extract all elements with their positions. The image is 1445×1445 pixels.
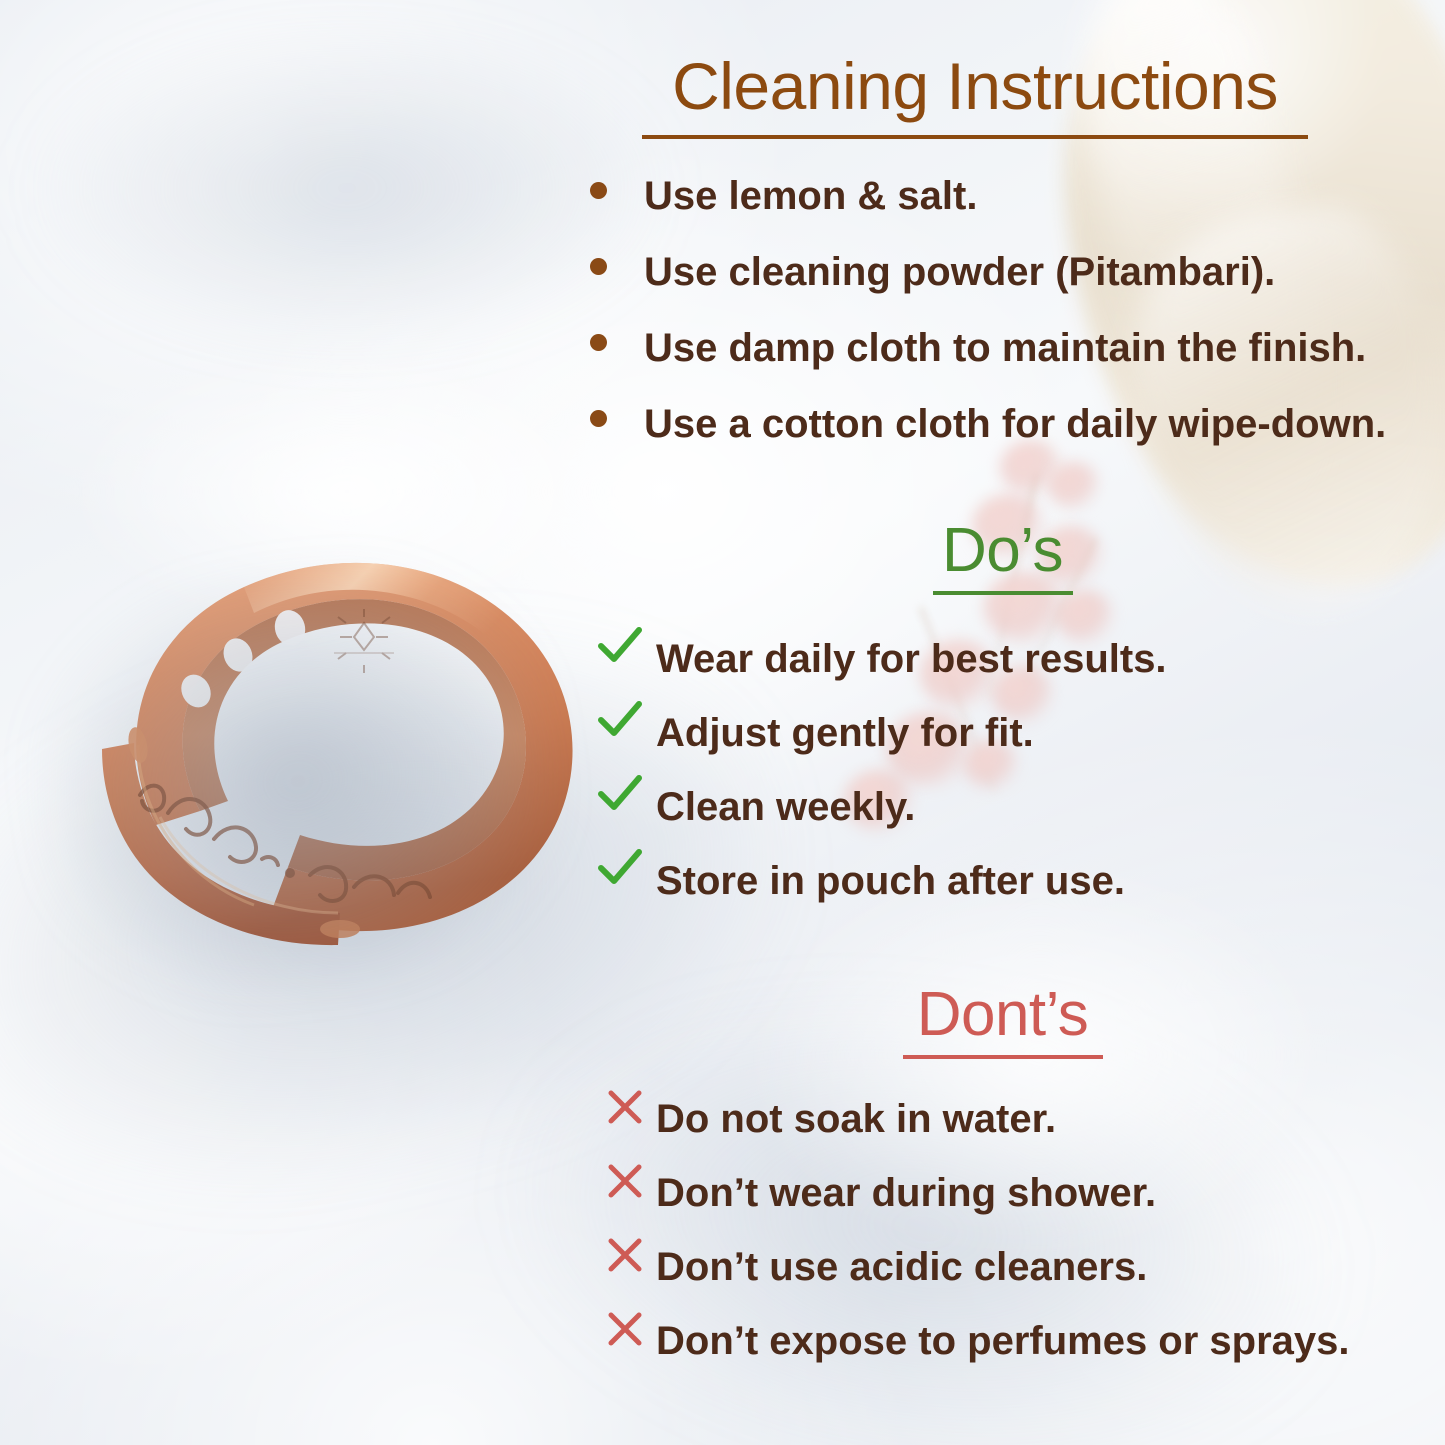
donts-title: Dont’s — [580, 982, 1425, 1047]
check-icon — [584, 700, 656, 740]
donts-title-underline — [903, 1055, 1103, 1059]
list-item: Do not soak in water. — [580, 1094, 1425, 1168]
list-item: Wear daily for best results. — [580, 632, 1425, 706]
cross-icon — [594, 1162, 656, 1200]
list-item: Use damp cloth to maintain the finish. — [580, 328, 1425, 404]
donts-list: Do not soak in water. Don’t wear during … — [580, 1094, 1425, 1390]
list-item-label: Don’t use acidic cleaners. — [656, 1247, 1147, 1287]
list-item: Use cleaning powder (Pitambari). — [580, 252, 1425, 328]
cross-icon — [594, 1236, 656, 1274]
dos-title: Do’s — [580, 518, 1425, 583]
cleaning-list: Use lemon & salt. Use cleaning powder (P… — [580, 176, 1425, 480]
check-icon — [584, 626, 656, 666]
list-item-label: Adjust gently for fit. — [656, 713, 1034, 753]
donts-section: Dont’s — [580, 982, 1425, 1059]
list-item: Clean weekly. — [580, 780, 1425, 854]
infographic-canvas: Cleaning Instructions Use lemon & salt. … — [0, 0, 1445, 1445]
cross-icon — [594, 1310, 656, 1348]
list-item: Don’t wear during shower. — [580, 1168, 1425, 1242]
list-item-label: Don’t expose to perfumes or sprays. — [656, 1321, 1350, 1361]
list-item: Use a cotton cloth for daily wipe-down. — [580, 404, 1425, 480]
text-content: Cleaning Instructions Use lemon & salt. … — [580, 0, 1425, 1445]
cleaning-section: Cleaning Instructions — [580, 52, 1370, 139]
page-title: Cleaning Instructions — [580, 52, 1370, 121]
dos-list: Wear daily for best results. Adjust gent… — [580, 632, 1425, 928]
list-item: Don’t use acidic cleaners. — [580, 1242, 1425, 1316]
list-item-label: Don’t wear during shower. — [656, 1173, 1156, 1213]
list-item-label: Wear daily for best results. — [656, 639, 1167, 679]
title-underline — [642, 135, 1308, 139]
list-item-label: Use a cotton cloth for daily wipe-down. — [644, 404, 1386, 444]
bullet-icon — [590, 268, 644, 285]
copper-bracelet-image — [38, 495, 618, 985]
list-item-label: Use damp cloth to maintain the finish. — [644, 328, 1366, 368]
list-item-label: Clean weekly. — [656, 787, 915, 827]
dos-section: Do’s — [580, 518, 1425, 595]
cross-icon — [594, 1088, 656, 1126]
bullet-icon — [590, 344, 644, 361]
list-item-label: Do not soak in water. — [656, 1099, 1056, 1139]
list-item-label: Use lemon & salt. — [644, 176, 977, 216]
bullet-icon — [590, 420, 644, 437]
list-item-label: Store in pouch after use. — [656, 861, 1125, 901]
dos-title-underline — [933, 591, 1073, 595]
check-icon — [584, 774, 656, 814]
bullet-icon — [590, 192, 644, 209]
check-icon — [584, 848, 656, 888]
list-item: Adjust gently for fit. — [580, 706, 1425, 780]
bracelet-drop-shadow — [23, 548, 574, 1014]
list-item: Use lemon & salt. — [580, 176, 1425, 252]
list-item-label: Use cleaning powder (Pitambari). — [644, 252, 1275, 292]
list-item: Store in pouch after use. — [580, 854, 1425, 928]
list-item: Don’t expose to perfumes or sprays. — [580, 1316, 1425, 1390]
background-shadow-top — [29, 29, 665, 347]
